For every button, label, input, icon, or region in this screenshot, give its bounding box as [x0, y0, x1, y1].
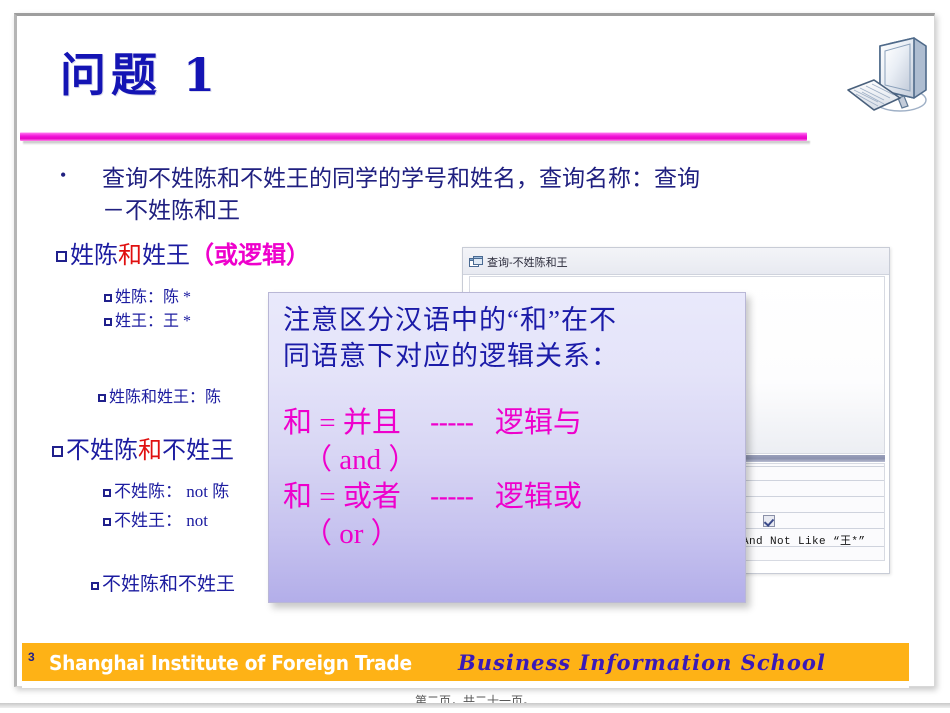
group1-part-b: 姓王 [142, 243, 190, 269]
square-bullet-icon [103, 518, 111, 526]
access-tab-bar: 查询-不姓陈和王 [463, 248, 889, 275]
group1-suffix: （或逻辑） [190, 243, 310, 269]
footer-institution-name: Shanghai Institute of Foreign Trade [49, 651, 412, 675]
footer-school-name: Business Information School [458, 650, 826, 675]
callout-rows: 和 = 并且 ----- 逻辑与 （ and ） 和 = 或者 ----- 逻辑… [283, 405, 731, 553]
bottom-rule [0, 703, 950, 708]
group2-sub-combined-label: 不姓陈和不姓王 [102, 574, 235, 595]
group1-part-a: 姓陈 [70, 243, 118, 269]
group1-sub-combined: 姓陈和姓王：陈 [98, 390, 221, 406]
group2-sub-2-label: 不姓王： not [114, 511, 208, 530]
group2-sub-1: 不姓陈： not 陈 [103, 483, 229, 500]
group2-conjunction: 和 [138, 438, 162, 464]
group1-heading: 姓陈和姓王（或逻辑） [56, 244, 310, 268]
main-bullet-line-2: －不姓陈和王 [102, 195, 900, 227]
callout-row-1: 和 = 并且 ----- 逻辑与 [283, 405, 731, 442]
callout-row-2-lhs: 和 = 或者 [283, 481, 401, 513]
page-number: 3 [28, 650, 35, 664]
main-bullet: • 查询不姓陈和不姓王的同学的学号和姓名，查询名称：查询 －不姓陈和王 [60, 163, 900, 226]
callout-row-1-paren: （ and ） [283, 442, 731, 479]
callout-row-1-rhs: 逻辑与 [495, 407, 582, 439]
callout-row-2-rhs: 逻辑或 [495, 481, 582, 513]
group2-sub-2: 不姓王： not [103, 512, 208, 529]
title-divider-bar [20, 132, 807, 141]
group2-heading: 不姓陈和不姓王 [52, 439, 234, 463]
group1-sub-combined-label: 姓陈和姓王：陈 [109, 389, 221, 406]
callout-head-line-2: 同语意下对应的逻辑关系： [283, 339, 731, 375]
group2-sub-combined: 不姓陈和不姓王 [91, 575, 235, 594]
group1-sub-2: 姓王：王 * [104, 314, 191, 330]
square-bullet-icon [104, 318, 112, 326]
square-bullet-icon [56, 251, 67, 262]
group1-sub-1-label: 姓陈：陈 * [115, 289, 191, 306]
callout-note: 注意区分汉语中的“和”在不 同语意下对应的逻辑关系： 和 = 并且 ----- … [268, 292, 746, 603]
callout-row-2: 和 = 或者 ----- 逻辑或 [283, 479, 731, 516]
square-bullet-icon [103, 489, 111, 497]
group1-sub-1: 姓陈：陈 * [104, 290, 191, 306]
access-tab-query[interactable]: 查询-不姓陈和王 [469, 251, 568, 273]
computer-monitor-icon [838, 28, 940, 130]
group2-part-a: 不姓陈 [66, 438, 138, 464]
square-bullet-icon [104, 294, 112, 302]
group1-conjunction: 和 [118, 243, 142, 269]
show-checkbox[interactable] [763, 515, 775, 527]
main-bullet-line-1: 查询不姓陈和不姓王的同学的学号和姓名，查询名称：查询 [102, 163, 900, 195]
callout-row-2-paren: （ or ） [283, 516, 731, 553]
footer-bar: Shanghai Institute of Foreign Trade Busi… [22, 643, 909, 681]
page-title: 问题 1 [60, 52, 220, 98]
group2-part-b: 不姓王 [162, 438, 234, 464]
criteria-cell-value[interactable]: " And Not Like “王*” [728, 532, 865, 548]
square-bullet-icon [91, 582, 99, 590]
slide-canvas: 问题 1 [0, 0, 950, 713]
group1-sub-2-label: 姓王：王 * [115, 313, 191, 330]
access-tab-label: 查询-不姓陈和王 [487, 254, 568, 270]
title-divider-shadow [23, 141, 810, 145]
callout-row-1-lhs: 和 = 并且 [283, 407, 401, 439]
query-window-icon [469, 256, 483, 269]
square-bullet-icon [52, 446, 63, 457]
callout-row-2-dash: ----- [430, 481, 473, 513]
callout-row-1-dash: ----- [430, 407, 473, 439]
group2-sub-1-label: 不姓陈： not 陈 [114, 482, 229, 501]
bullet-dot-icon: • [60, 163, 66, 188]
callout-head-line-1: 注意区分汉语中的“和”在不 [283, 303, 731, 339]
title-divider [20, 132, 807, 144]
square-bullet-icon [98, 394, 106, 402]
footer-spacer [22, 681, 909, 688]
